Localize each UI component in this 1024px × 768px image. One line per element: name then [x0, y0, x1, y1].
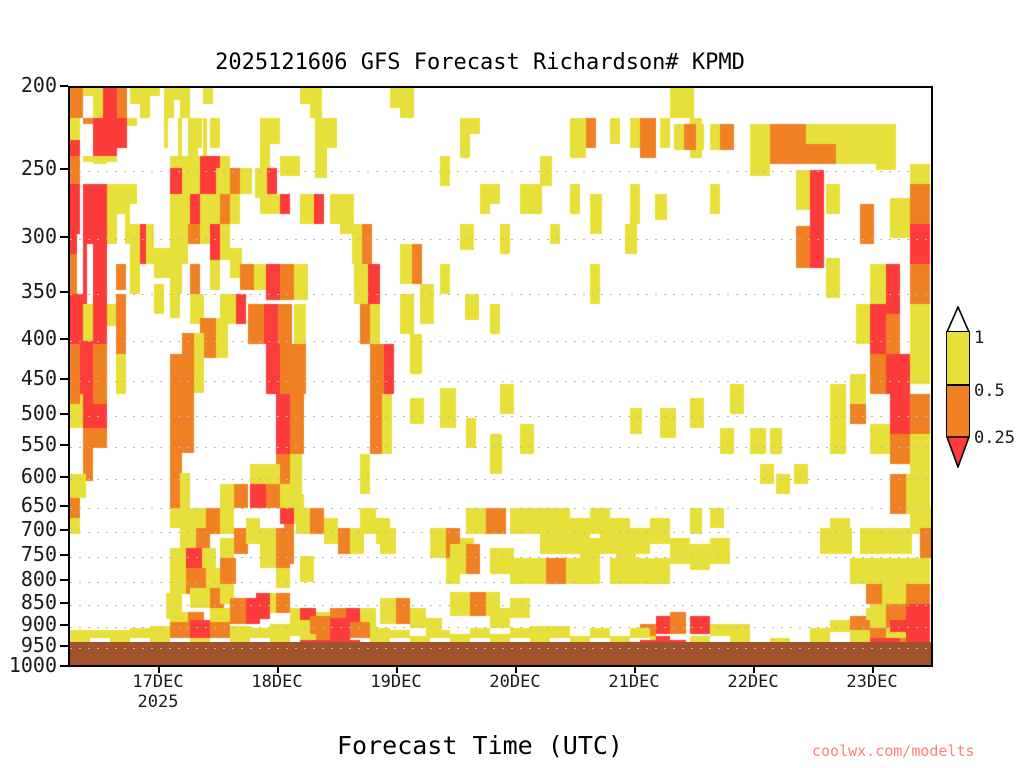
y-tick-300 [60, 236, 68, 238]
y-tick-200 [60, 85, 68, 87]
y-tick-250 [60, 168, 68, 170]
y-tick-950 [60, 645, 68, 647]
chart-title: 2025121606 GFS Forecast Richardson# KPMD [0, 50, 960, 75]
y-tick-900 [60, 624, 68, 626]
colorbar-underflow-triangle [946, 436, 970, 466]
colorbar-overflow-triangle [946, 306, 970, 332]
y-tick-400 [60, 338, 68, 340]
colorbar-label-0point25: 0.25 [974, 428, 1015, 448]
y-axis-label-900: 900 [0, 614, 57, 634]
gridline-350 [70, 294, 931, 295]
colorbar-segment-yellow [947, 332, 969, 385]
x-axis-label-20DEC: 20DEC [470, 673, 560, 691]
x-axis-label-21DEC: 21DEC [589, 673, 679, 691]
gridline-650 [70, 508, 931, 509]
x-axis-label-23DEC: 23DEC [827, 673, 917, 691]
y-tick-500 [60, 413, 68, 415]
colorbar[interactable]: 1 0.5 0.25 [946, 306, 970, 466]
y-tick-350 [60, 291, 68, 293]
heatmap-cells-layer [70, 88, 931, 665]
y-axis-label-350: 350 [0, 281, 57, 301]
y-tick-750 [60, 554, 68, 556]
x-axis-label-18DEC: 18DEC [232, 673, 322, 691]
plot-area[interactable] [68, 86, 933, 667]
chart-root: 2025121606 GFS Forecast Richardson# KPMD… [0, 0, 1024, 768]
x-axis-label-22DEC: 22DEC [708, 673, 798, 691]
richardson-number-heatmap [70, 88, 931, 665]
gridline-900 [70, 627, 931, 628]
gridline-300 [70, 239, 931, 240]
y-axis-label-950: 950 [0, 635, 57, 655]
gridline-850 [70, 605, 931, 606]
y-axis-label-650: 650 [0, 495, 57, 515]
gridline-750 [70, 557, 931, 558]
gridline-800 [70, 582, 931, 583]
colorbar-segment-orange [947, 385, 969, 438]
y-axis-label-700: 700 [0, 519, 57, 539]
y-axis-label-600: 600 [0, 466, 57, 486]
y-axis-label-300: 300 [0, 226, 57, 246]
colorbar-separator [947, 384, 969, 386]
y-tick-450 [60, 378, 68, 380]
gridline-400 [70, 341, 931, 342]
colorbar-body [946, 331, 970, 437]
y-axis-label-1000: 1000 [0, 655, 57, 675]
y-axis-label-250: 250 [0, 158, 57, 178]
y-axis-label-400: 400 [0, 328, 57, 348]
x-axis-year-label: 2025 [113, 693, 203, 711]
gridline-550 [70, 447, 931, 448]
colorbar-label-1: 1 [974, 328, 984, 348]
y-tick-850 [60, 602, 68, 604]
y-tick-600 [60, 476, 68, 478]
y-tick-800 [60, 579, 68, 581]
gridline-700 [70, 532, 931, 533]
terrain-fill [70, 642, 931, 665]
y-axis-label-850: 850 [0, 592, 57, 612]
x-axis-label-17DEC: 17DEC [113, 673, 203, 691]
watermark-link[interactable]: coolwx.com/modelts [812, 742, 975, 760]
y-axis-label-750: 750 [0, 544, 57, 564]
x-axis-label-19DEC: 19DEC [351, 673, 441, 691]
y-tick-550 [60, 444, 68, 446]
y-tick-700 [60, 529, 68, 531]
gridline-950 [70, 648, 931, 649]
gridline-250 [70, 171, 931, 172]
y-tick-1000 [60, 665, 68, 667]
y-axis-label-550: 550 [0, 434, 57, 454]
y-axis-label-500: 500 [0, 403, 57, 423]
colorbar-label-0point5: 0.5 [974, 381, 1005, 401]
y-axis-label-450: 450 [0, 368, 57, 388]
y-axis-label-800: 800 [0, 569, 57, 589]
gridline-600 [70, 479, 931, 480]
gridline-500 [70, 416, 931, 417]
y-axis-label-200: 200 [0, 75, 57, 95]
y-tick-650 [60, 505, 68, 507]
gridline-450 [70, 381, 931, 382]
